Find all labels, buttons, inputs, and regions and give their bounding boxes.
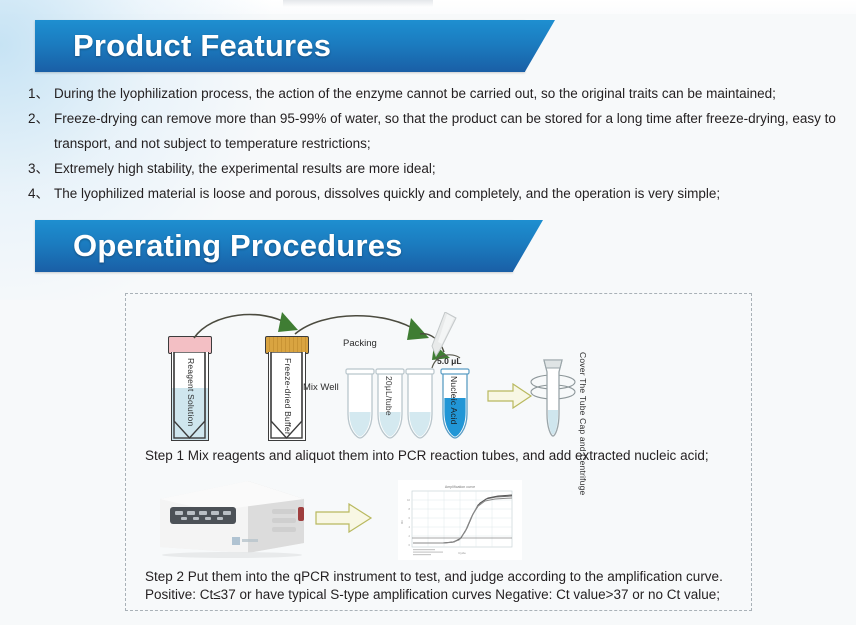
pcr-tube-3 <box>405 368 435 442</box>
step2-caption-line1: Step 2 Put them into the qPCR instrument… <box>145 568 723 586</box>
qpcr-instrument-image <box>152 473 312 564</box>
page-top-highlight <box>0 0 856 14</box>
block-arrow-right <box>487 383 533 409</box>
list-item-text: The lyophilized material is loose and po… <box>54 184 720 204</box>
list-item-number: 2、 <box>28 109 54 129</box>
reagent-solution-tube: Reagent Solution <box>168 336 212 442</box>
step1-caption: Step 1 Mix reagents and aliquot them int… <box>145 447 709 465</box>
cropped-top-element <box>283 0 433 7</box>
tube-label-freeze-dried-buffer: Freeze-dried Buffer <box>283 358 293 435</box>
list-item-text: Freeze-drying can remove more than 95-99… <box>54 109 836 129</box>
pcr-tube-1 <box>345 368 375 442</box>
section-title-product-features: Product Features <box>35 28 331 64</box>
section-title-operating-procedures: Operating Procedures <box>35 228 403 264</box>
svg-text:Amplification curve: Amplification curve <box>445 485 475 489</box>
list-item: 2、 Freeze-drying can remove more than 95… <box>28 109 840 129</box>
tube-label-reagent-solution: Reagent Solution <box>186 358 196 426</box>
pcr-tube-nucleic-acid: Nucleic Acid <box>440 368 470 442</box>
label-cover-and-centrifuge: Cover The Tube Cap and Centrifuge <box>577 352 588 495</box>
block-arrow-right-step2 <box>315 503 373 533</box>
list-item-text-continuation: transport, and not subject to temperatur… <box>54 134 840 154</box>
section-banner-product-features: Product Features <box>35 20 525 72</box>
banner-shear-right <box>501 220 543 272</box>
list-item-text: During the lyophilization process, the a… <box>54 84 776 104</box>
pcr-tube-2: 20μL/tube <box>375 368 405 442</box>
label-nucleic-acid: Nucleic Acid <box>449 376 459 425</box>
list-item: 3、 Extremely high stability, the experim… <box>28 159 840 179</box>
label-volume-per-tube: 20μL/tube <box>384 376 394 416</box>
list-item: 1、 During the lyophilization process, th… <box>28 84 840 104</box>
list-item-number: 4、 <box>28 184 54 204</box>
list-item-number: 3、 <box>28 159 54 179</box>
step2-caption-line2: Positive: Ct≤37 or have typical S-type a… <box>145 586 723 604</box>
svg-text:Cycle: Cycle <box>458 551 466 555</box>
step2-caption: Step 2 Put them into the qPCR instrument… <box>145 568 723 604</box>
list-item-number: 1、 <box>28 84 54 104</box>
svg-text:Rn: Rn <box>400 520 404 524</box>
label-mix-well: Mix Well <box>303 382 339 393</box>
product-features-list: 1、 During the lyophilization process, th… <box>28 84 840 209</box>
amplification-curve-plot: Amplification curve 10 8 6 4 2 0 Rn <box>398 480 522 565</box>
list-item-text: Extremely high stability, the experiment… <box>54 159 436 179</box>
section-banner-operating-procedures: Operating Procedures <box>35 220 513 272</box>
banner-shear-right <box>513 20 555 72</box>
amplification-curve-svg: Amplification curve 10 8 6 4 2 0 Rn <box>398 480 522 560</box>
centrifuge-tube <box>528 352 578 449</box>
list-item: 4、 The lyophilized material is loose and… <box>28 184 840 204</box>
